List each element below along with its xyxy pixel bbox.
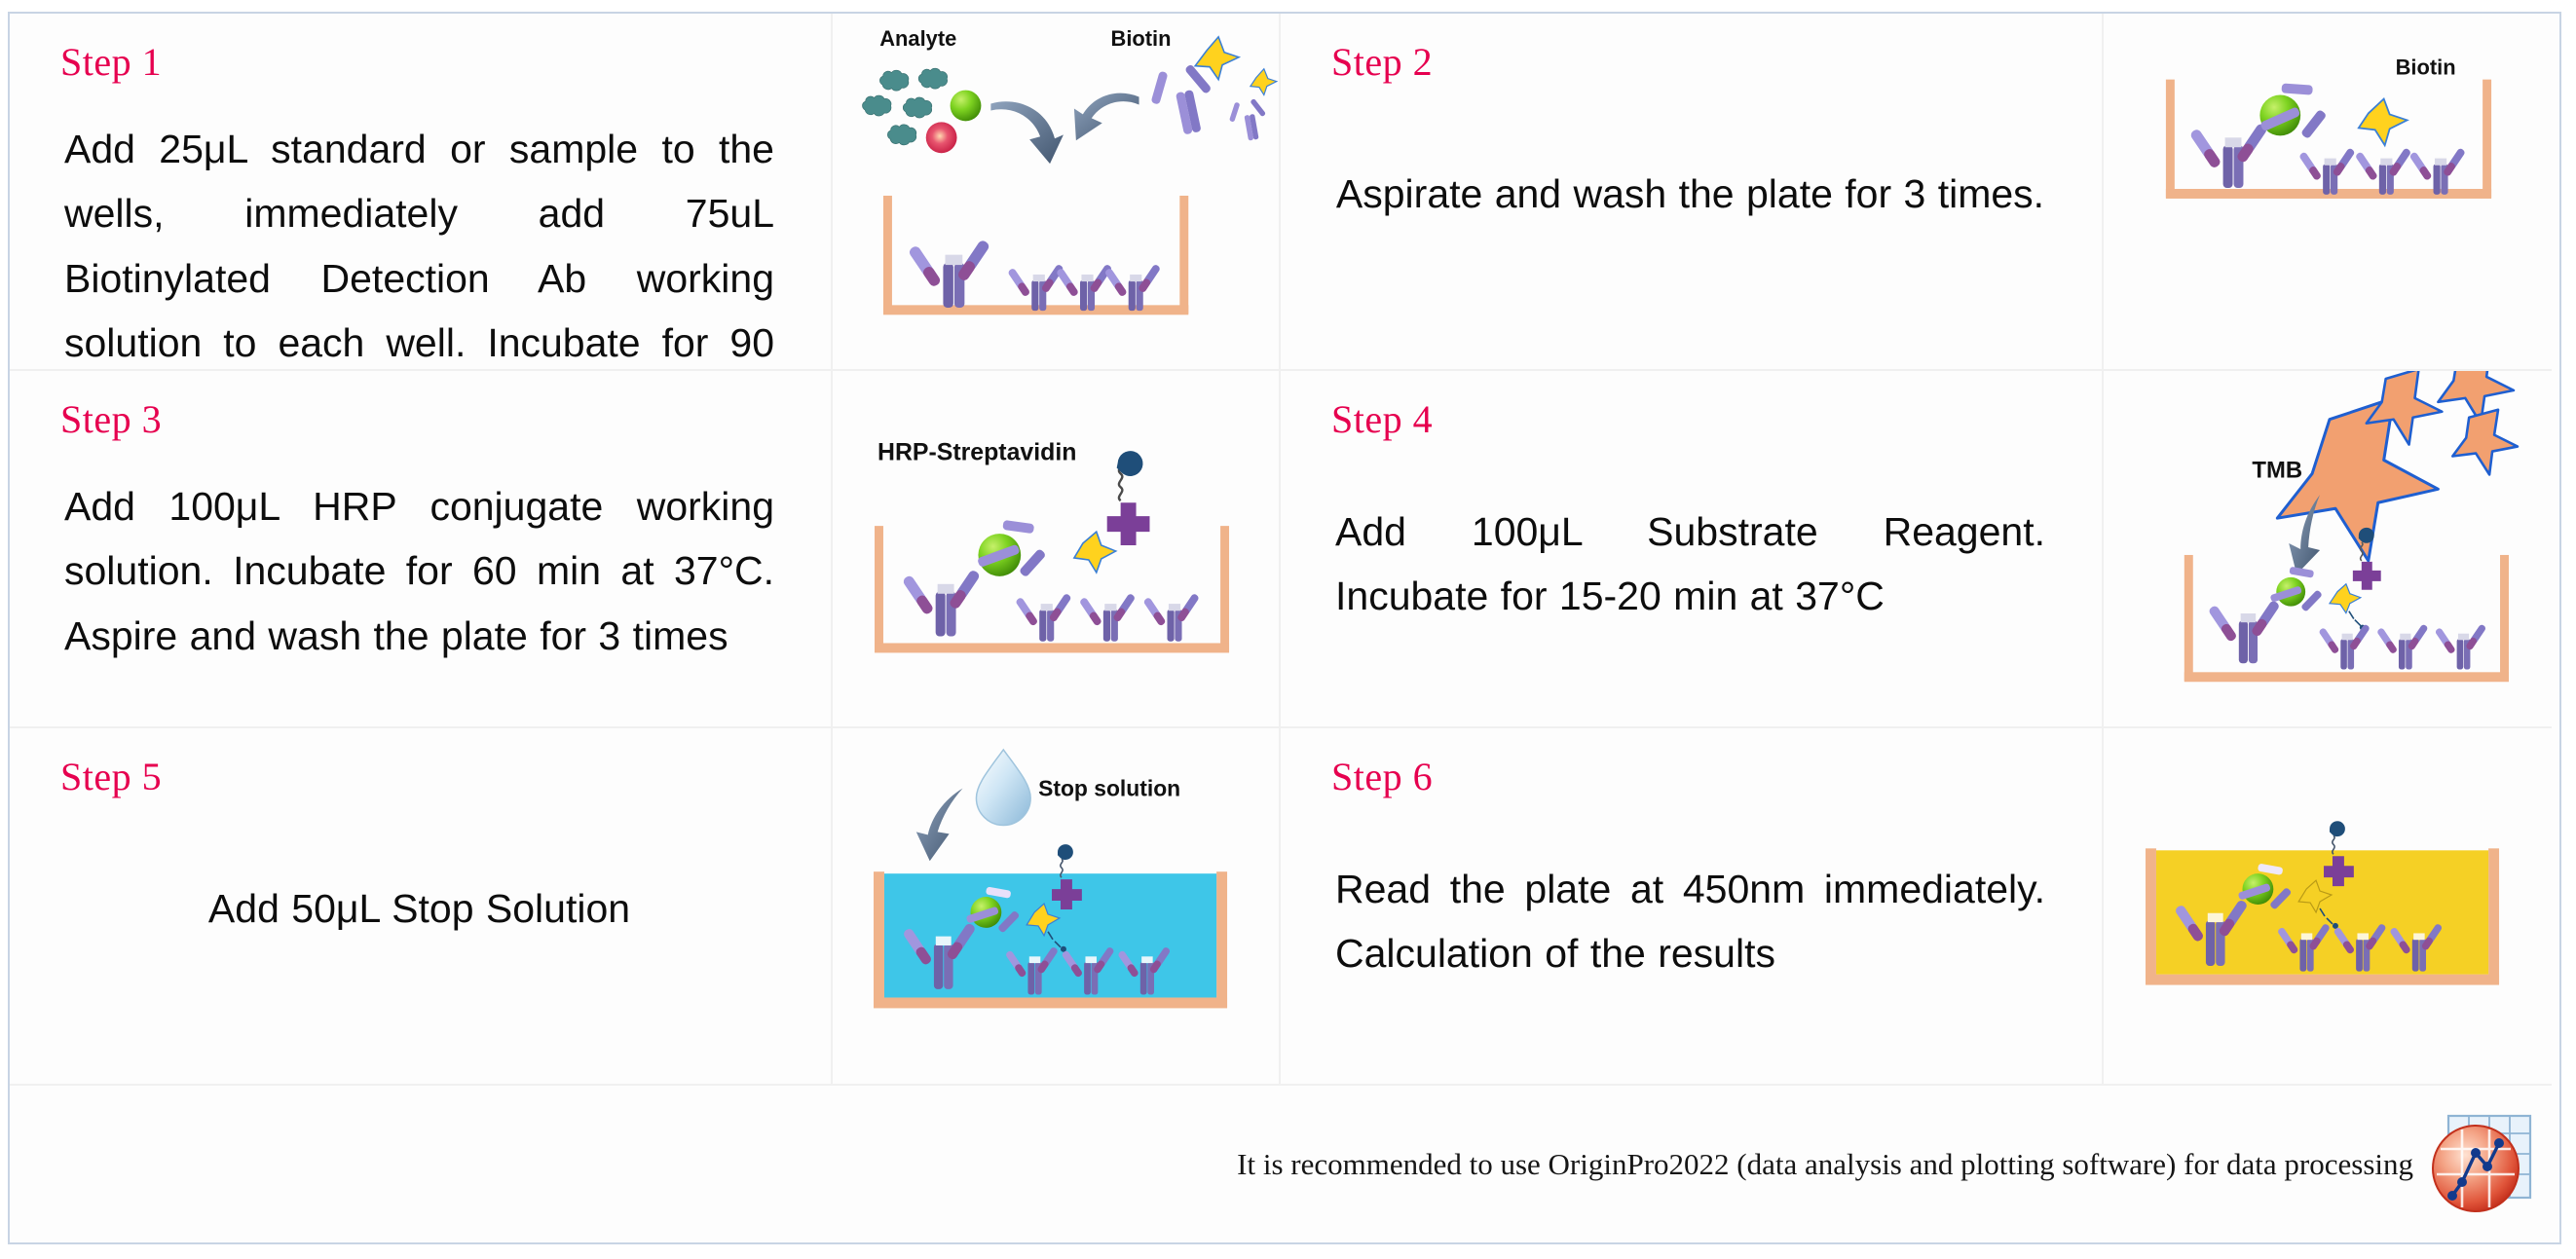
- hrp-enzyme: [1058, 844, 1073, 860]
- tmb-stars: [2277, 371, 2518, 561]
- steps-grid: Step 1 Add 25μL standard or sample to th…: [10, 14, 2559, 1242]
- step-1-text-cell: Step 1 Add 25μL standard or sample to th…: [10, 14, 833, 371]
- hrp-streptavidin-label: HRP-Streptavidin: [877, 438, 1076, 465]
- streptavidin-cross: [1107, 502, 1150, 545]
- originpro-logo: [2427, 1110, 2536, 1219]
- add-sample-and-detection-ab-illustration: Analyte Biotin: [833, 14, 1279, 369]
- biotin-star-small: [1251, 69, 1277, 95]
- step-6-text-cell: Step 6 Read the plate at 450nm immediate…: [1281, 728, 2104, 1086]
- step-6-illustration-cell: [2104, 728, 2552, 1086]
- origin-ball: [2433, 1126, 2519, 1211]
- biotin-star: [1195, 37, 1239, 80]
- biotin-label: Biotin: [2396, 56, 2456, 80]
- step-4-text-cell: Step 4 Add 100μL Substrate Reagent. Incu…: [1281, 371, 2104, 728]
- biotin-star: [2330, 584, 2361, 613]
- step-5-text-cell: Step 5 Add 50μL Stop Solution: [10, 728, 833, 1086]
- recommendation-note: It is recommended to use OriginPro2022 (…: [1237, 1147, 2413, 1182]
- capture-antibody-complex: [902, 569, 981, 636]
- capture-antibody-complex: [2189, 123, 2268, 188]
- well-left-wall: [874, 871, 884, 1007]
- step-4-illustration-cell: TMB: [2104, 371, 2552, 728]
- diagram-frame: Step 1 Add 25μL standard or sample to th…: [8, 12, 2561, 1244]
- capture-antibodies: [2298, 147, 2466, 194]
- step-1-body: Add 25μL standard or sample to the wells…: [64, 117, 774, 371]
- step-2-body: Aspirate and wash the plate for 3 times.: [1335, 162, 2045, 226]
- biotinylated-antibody-small: [1226, 69, 1277, 144]
- stop-solution-illustration: Stop solution: [833, 728, 1279, 1084]
- footer-bar: It is recommended to use OriginPro2022 (…: [10, 1086, 2552, 1242]
- tmb-substrate-illustration: TMB: [2104, 371, 2552, 726]
- curved-arrow: [916, 789, 963, 862]
- tmb-star-4: [2452, 410, 2518, 475]
- step-5-body: Add 50μL Stop Solution: [64, 876, 774, 941]
- streptavidin-cross: [2353, 562, 2381, 590]
- biotin-label: Biotin: [1111, 26, 1172, 51]
- step-3-illustration-cell: HRP-Streptavidin: [833, 371, 1281, 728]
- capture-antibodies: [2318, 623, 2486, 669]
- well-right-wall: [2488, 848, 2499, 983]
- analyte-label: Analyte: [879, 26, 956, 51]
- washed-plate-illustration: Biotin: [2104, 14, 2552, 369]
- step-5-illustration-cell: Stop solution: [833, 728, 1281, 1086]
- elisa-protocol-page: Step 1 Add 25μL standard or sample to th…: [0, 0, 2576, 1259]
- tmb-label: TMB: [2252, 457, 2302, 483]
- step-1-label: Step 1: [60, 43, 802, 82]
- step-5-label: Step 5: [60, 758, 802, 796]
- step-3-body: Add 100μL HRP conjugate working solution…: [64, 474, 774, 668]
- hrp-streptavidin-illustration: HRP-Streptavidin: [833, 371, 1279, 726]
- step-3-label: Step 3: [60, 400, 802, 439]
- step-2-text-cell: Step 2 Aspirate and wash the plate for 3…: [1281, 14, 2104, 371]
- step-2-label: Step 2: [1331, 43, 2072, 82]
- yellow-well-illustration: [2104, 728, 2552, 1084]
- well-right-wall: [1216, 871, 1227, 1007]
- hrp-enzyme: [2330, 821, 2345, 836]
- cyan-filled-well: [874, 871, 1227, 1008]
- step-4-body: Add 100μL Substrate Reagent. Incubate fo…: [1335, 500, 2045, 629]
- curved-arrow-left: [990, 101, 1064, 164]
- capture-antibodies: [908, 239, 1161, 311]
- well-left-wall: [2146, 848, 2156, 983]
- step-6-label: Step 6: [1331, 758, 2072, 796]
- yellow-filled-well: [2146, 848, 2499, 984]
- red-analyte-sphere: [926, 122, 957, 153]
- step-4-label: Step 4: [1331, 400, 2072, 439]
- capture-antibody-complex: [2208, 600, 2281, 664]
- well-floor: [2146, 975, 2499, 985]
- water-droplet: [976, 750, 1030, 826]
- hrp-enzyme: [2359, 528, 2374, 543]
- well-floor: [874, 997, 1227, 1008]
- biotin-star: [2359, 99, 2408, 146]
- capture-antibodies: [1015, 593, 1200, 642]
- step-2-illustration-cell: Biotin: [2104, 14, 2552, 371]
- curved-arrow-right: [1074, 93, 1139, 141]
- step-6-body: Read the plate at 450nm immediately. Cal…: [1335, 857, 2045, 986]
- biotin-star: [1074, 532, 1116, 573]
- green-analyte-sphere: [951, 91, 982, 122]
- substrate-dots: [2349, 611, 2361, 626]
- stop-solution-label: Stop solution: [1038, 776, 1180, 801]
- step-1-illustration-cell: Analyte Biotin: [833, 14, 1281, 371]
- biotinylated-antibody-large: [1144, 37, 1239, 140]
- step-3-text-cell: Step 3 Add 100μL HRP conjugate working s…: [10, 371, 833, 728]
